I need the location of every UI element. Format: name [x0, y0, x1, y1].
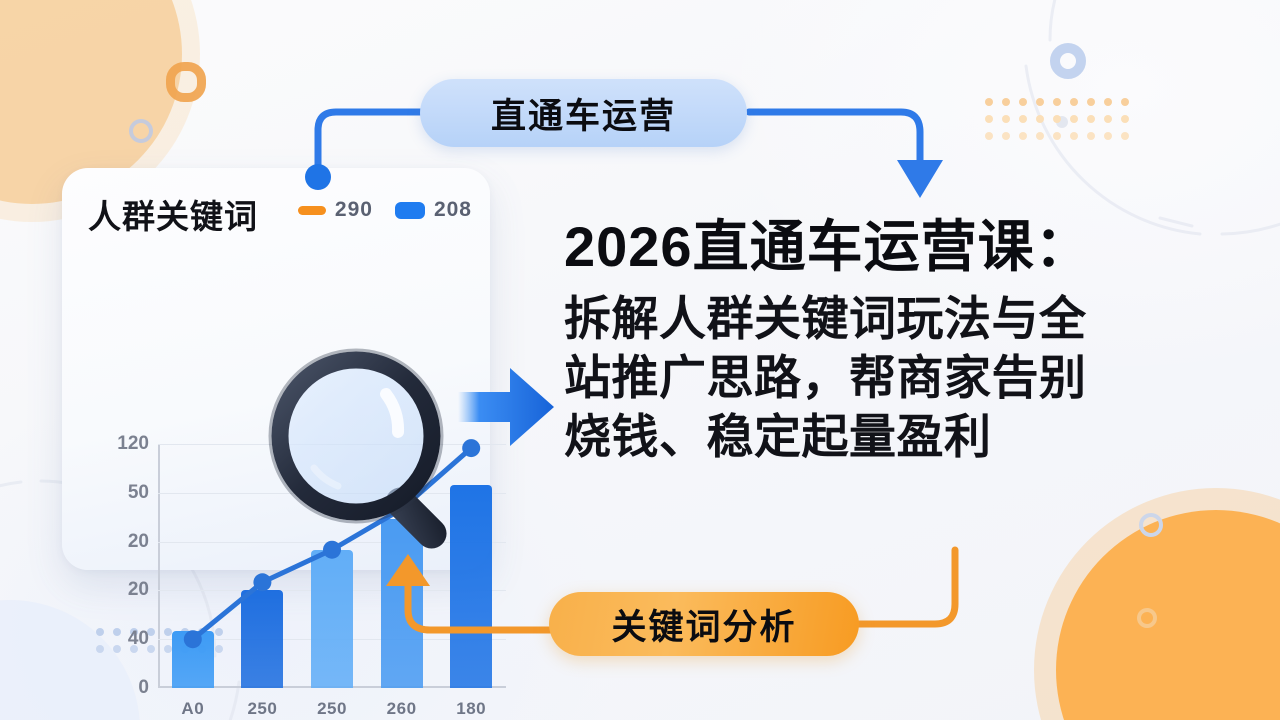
- blob-bottom-right: [1056, 510, 1280, 720]
- y-axis-tick-label: 20: [128, 531, 149, 553]
- badge-bottom-label: 关键词分析: [611, 599, 796, 650]
- page-title: 2026直通车运营课：: [564, 216, 1224, 279]
- chart-line-point: [184, 630, 202, 648]
- arc-decoration-top-right: [1010, 0, 1280, 250]
- chart-plot-area: 120502020400A0250250260180: [158, 444, 506, 688]
- chart-line-point: [323, 541, 341, 559]
- ring-grey-icon: [129, 119, 153, 143]
- subheadline: 拆解人群关键词玩法与全 站推广思路，帮商家告别 烧钱、稳定起量盈利: [564, 289, 1224, 467]
- elbow-connector-orange: [855, 548, 1035, 668]
- right-arrow-icon: [458, 352, 558, 462]
- chart-title: 人群关键词: [88, 190, 258, 238]
- legend-label-bar: 208: [434, 198, 472, 222]
- ring-orange-icon: [166, 62, 206, 102]
- legend-label-line: 290: [335, 198, 373, 222]
- badge-bottom[interactable]: 关键词分析: [549, 592, 859, 656]
- x-axis-tick-label: 250: [247, 699, 277, 719]
- legend-swatch-bar-icon: [395, 202, 425, 219]
- dot-grid-orange: [985, 98, 1129, 140]
- ring-blue-small-icon: [1139, 513, 1163, 537]
- chart-line-point: [253, 573, 271, 591]
- poster-canvas: 人群关键词 290 208 120502020400A0250250260180: [0, 0, 1280, 720]
- chart-legend: 290 208: [298, 198, 472, 222]
- x-axis-tick-label: 180: [456, 699, 486, 719]
- legend-item-line: 290: [298, 198, 373, 222]
- headline-block: 2026直通车运营课： 拆解人群关键词玩法与全 站推广思路，帮商家告别 烧钱、稳…: [564, 216, 1224, 466]
- chart-card: 人群关键词 290 208 120502020400A0250250260180: [62, 168, 490, 570]
- badge-top[interactable]: 直通车运营: [420, 79, 747, 147]
- x-axis-tick-label: A0: [181, 699, 204, 719]
- badge-top-label: 直通车运营: [491, 88, 676, 139]
- y-axis-tick-label: 120: [117, 433, 149, 455]
- legend-item-bar: 208: [395, 198, 472, 222]
- ring-blue-icon: [1050, 43, 1086, 79]
- subheadline-line: 拆解人群关键词玩法与全: [564, 289, 1224, 348]
- subheadline-line: 烧钱、稳定起量盈利: [564, 407, 1224, 466]
- subheadline-line: 站推广思路，帮商家告别: [564, 348, 1224, 407]
- y-axis-tick-label: 20: [128, 579, 149, 601]
- x-axis-tick-label: 260: [387, 699, 417, 719]
- chart-line-series: [158, 444, 506, 688]
- ring-orange-small-icon: [1137, 608, 1157, 628]
- elbow-arrow-blue-down: [745, 90, 945, 205]
- chart-line-point: [393, 500, 411, 518]
- x-axis-tick-label: 250: [317, 699, 347, 719]
- y-axis-tick-label: 40: [128, 628, 149, 650]
- y-axis-tick-label: 0: [138, 677, 149, 699]
- blob-bottom-left: [0, 600, 140, 720]
- legend-swatch-line-icon: [298, 206, 326, 215]
- y-axis-tick-label: 50: [128, 482, 149, 504]
